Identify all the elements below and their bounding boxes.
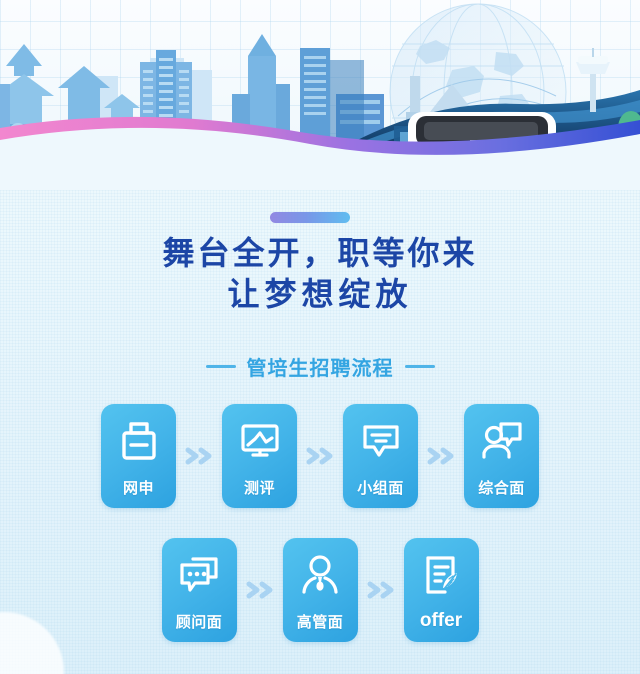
flow-step-assessment[interactable]: 测评: [222, 404, 297, 508]
recruitment-poster: 舞台全开，职等你来 让梦想绽放 管培生招聘流程 网申: [0, 0, 640, 674]
section-title-text: 管培生招聘流程: [247, 352, 394, 381]
page-title: 舞台全开，职等你来 让梦想绽放: [0, 233, 640, 315]
flow-arrow-5: [358, 580, 404, 600]
flow-arrow-3: [418, 446, 464, 466]
flow-step-label: offer: [404, 610, 479, 632]
flow-step-offer[interactable]: offer: [404, 538, 479, 642]
monitor-chart-icon: [238, 419, 282, 463]
gradient-pill-accent: [270, 212, 350, 223]
speech-bubble-lines-icon: [359, 419, 403, 463]
flow-step-label: 综合面: [464, 477, 539, 498]
flow-arrow-1: [176, 446, 222, 466]
recruitment-flow-row-1: 网申 测评: [0, 404, 640, 508]
flow-step-label: 顾问面: [162, 611, 237, 632]
flow-step-group-interview[interactable]: 小组面: [343, 404, 418, 508]
headline-line-2: 让梦想绽放: [0, 274, 640, 315]
flow-step-comprehensive-interview[interactable]: 综合面: [464, 404, 539, 508]
document-feather-icon: [419, 553, 463, 597]
double-chevron-right-icon: [183, 446, 215, 466]
double-chevron-right-icon: [425, 446, 457, 466]
banner-illustration: [0, 0, 640, 190]
double-chevron-right-icon: [304, 446, 336, 466]
flow-step-label: 网申: [101, 477, 176, 498]
recruitment-flow-row-2: 顾问面 高管面: [0, 538, 640, 642]
hero-banner: [0, 0, 640, 190]
flow-arrow-2: [297, 446, 343, 466]
person-speech-bubble-icon: [480, 419, 524, 463]
double-chevron-right-icon: [244, 580, 276, 600]
right-tower: [330, 60, 364, 142]
flow-step-executive-interview[interactable]: 高管面: [283, 538, 358, 642]
flow-step-online-application[interactable]: 网申: [101, 404, 176, 508]
flow-step-label: 小组面: [343, 477, 418, 498]
double-chat-bubbles-icon: [177, 553, 221, 597]
printer-form-icon: [117, 419, 161, 463]
flow-step-label: 测评: [222, 477, 297, 498]
headline-line-1: 舞台全开，职等你来: [0, 233, 640, 274]
dash-left-icon: [206, 365, 236, 368]
flow-step-consultant-interview[interactable]: 顾问面: [162, 538, 237, 642]
flow-step-label: 高管面: [283, 611, 358, 632]
dash-right-icon: [405, 365, 435, 368]
double-chevron-right-icon: [365, 580, 397, 600]
person-necktie-icon: [298, 553, 342, 597]
section-header: 管培生招聘流程: [0, 352, 640, 381]
flow-arrow-4: [237, 580, 283, 600]
